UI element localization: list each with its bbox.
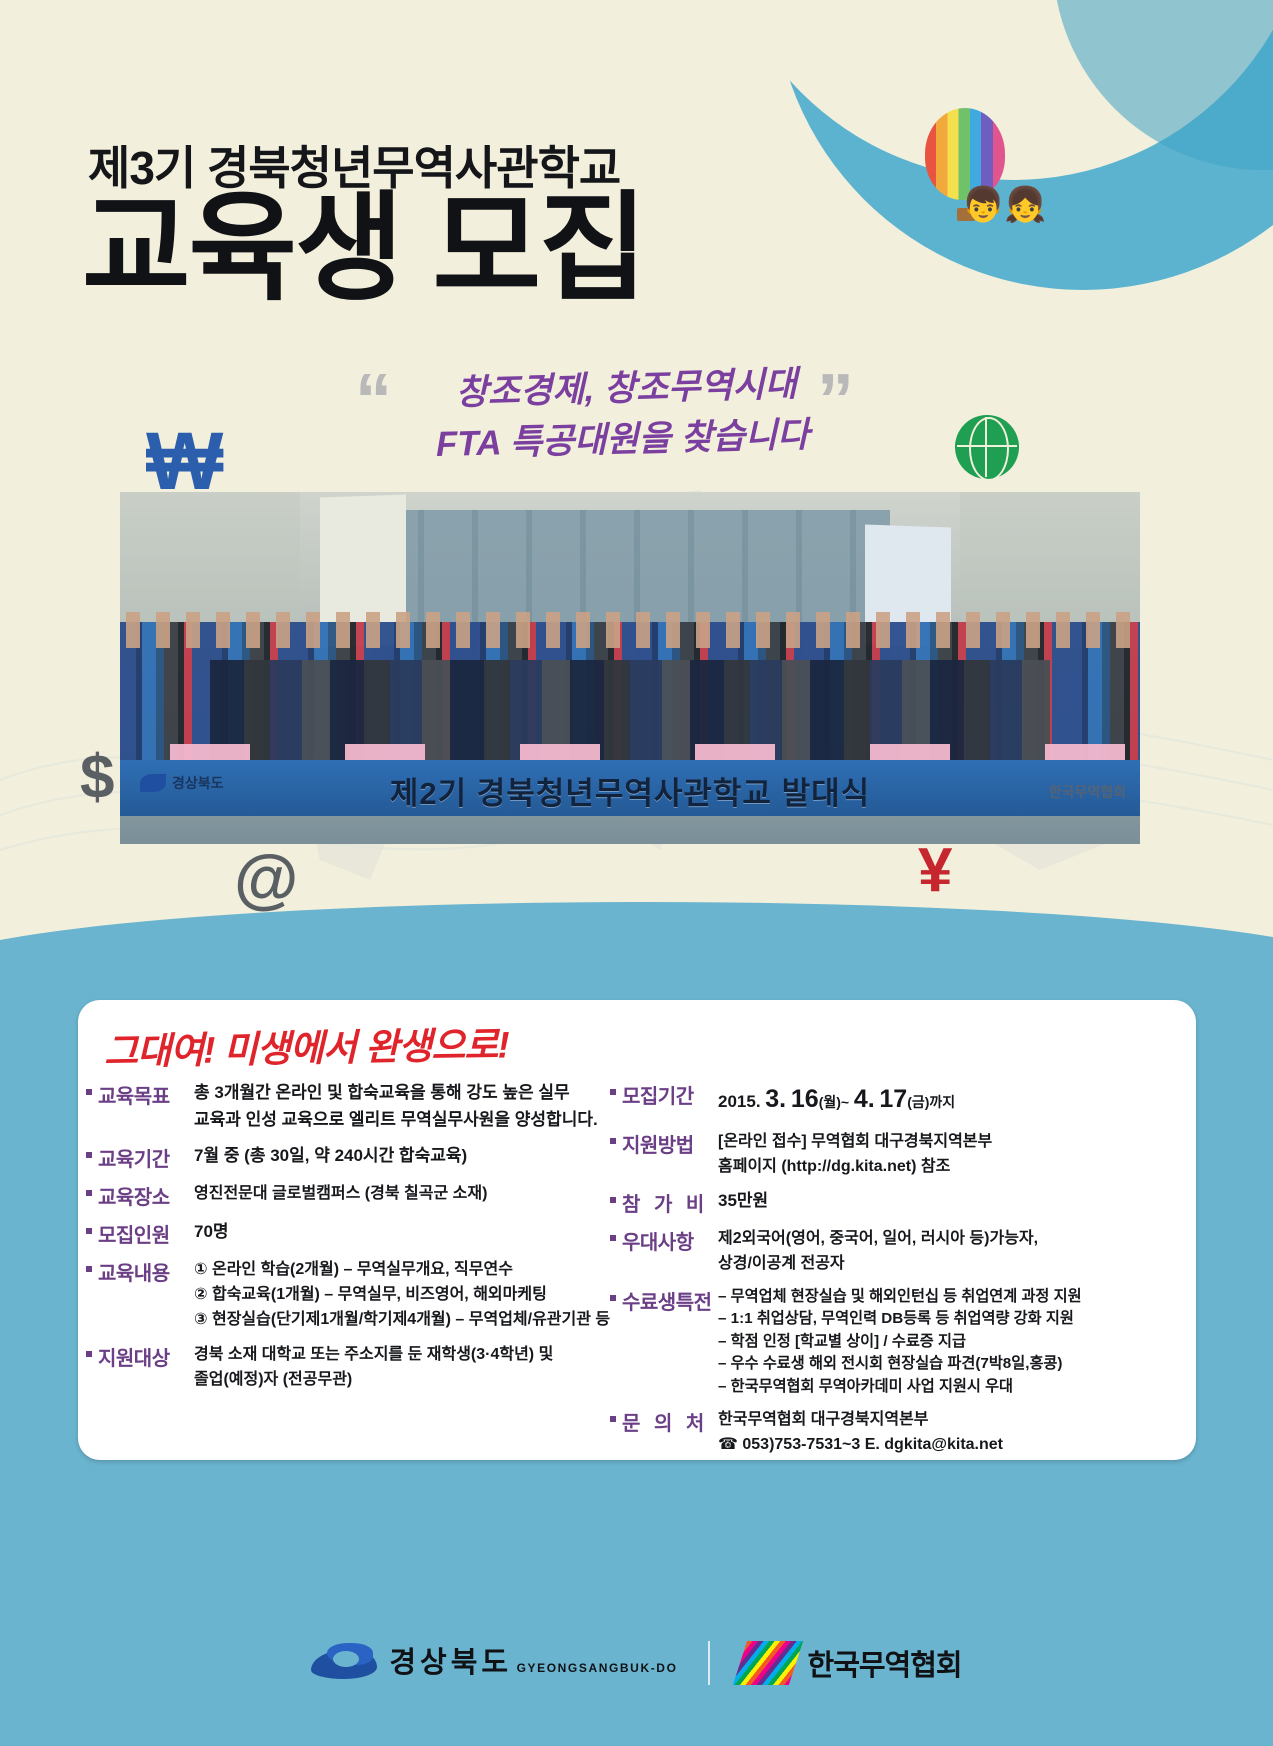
- value-eligibility-line-2: 졸업(예정)자 (전공무관): [194, 1367, 596, 1392]
- label-period: 교육기간: [86, 1143, 194, 1172]
- value-curriculum-line-2: ② 합숙교육(1개월) – 무역실무, 비즈영어, 해외마케팅: [194, 1282, 610, 1307]
- info-row-preference: 우대사항 제2외국어(영어, 중국어, 일어, 러시아 등)가능자, 상경/이공…: [610, 1226, 1185, 1277]
- value-benefits-line-2: – 1:1 취업상담, 무역인력 DB등록 등 취업역량 강화 지원: [718, 1308, 1185, 1331]
- bullet-icon: [86, 1266, 92, 1272]
- label-preference-text: 우대사항: [622, 1226, 694, 1255]
- poster-top-background: 제3기 경북청년무역사관학교 교육생 모집 “ 창조경제, 창조무역시대 FTA…: [0, 0, 1273, 1000]
- value-benefits-line-1: – 무역업체 현장실습 및 해외인턴십 등 취업연계 과정 지원: [718, 1286, 1185, 1309]
- bullet-icon: [86, 1351, 92, 1357]
- info-column-left: 교육목표 총 3개월간 온라인 및 합숙교육을 통해 강도 높은 실무 교육과 …: [86, 1080, 596, 1467]
- value-preference: 제2외국어(영어, 중국어, 일어, 러시아 등)가능자, 상경/이공계 전공자: [718, 1226, 1185, 1277]
- photo-kita-logo-text: 한국무역협회: [1049, 782, 1126, 802]
- gb-logo-en: GYEONGSANGBUK-DO: [517, 1661, 678, 1675]
- value-how-to-apply-line-2[interactable]: 홈페이지 (http://dg.kita.net) 참조: [718, 1154, 1185, 1179]
- info-row-fee: 참 가 비 35만원: [610, 1188, 1185, 1217]
- label-curriculum: 교육내용: [86, 1257, 194, 1286]
- value-fee: 35만원: [718, 1188, 1185, 1215]
- gyeongsangbuk-mark-icon: [311, 1641, 377, 1685]
- date-day-end: 17: [879, 1085, 907, 1113]
- value-venue: 영진전문대 글로벌캠퍼스 (경북 칠곡군 소재): [194, 1181, 596, 1206]
- value-goal-line-2: 교육과 인성 교육으로 엘리트 무역실무사원을 양성합니다.: [194, 1107, 598, 1134]
- label-fee-text: 참 가 비: [622, 1188, 708, 1217]
- label-venue: 교육장소: [86, 1181, 194, 1210]
- date-day-start: 16: [791, 1085, 819, 1113]
- value-contact: 한국무역협회 대구경북지역본부 ☎ 053)753-7531~3 E. dgki…: [718, 1407, 1185, 1458]
- gyeongsangbuk-mark-icon: [140, 774, 166, 792]
- value-period: 7월 중 (총 30일, 약 240시간 합숙교육): [194, 1143, 596, 1170]
- label-fee: 참 가 비: [610, 1188, 718, 1217]
- bullet-icon: [86, 1190, 92, 1196]
- label-contact-text: 문 의 처: [622, 1407, 708, 1436]
- value-benefits-line-5: – 한국무역협회 무역아카데미 사업 지원시 우대: [718, 1376, 1185, 1399]
- info-row-eligibility: 지원대상 경북 소재 대학교 또는 주소지를 둔 재학생(3·4학년) 및 졸업…: [86, 1342, 596, 1393]
- bullet-icon: [610, 1295, 616, 1301]
- dollar-currency-icon: $: [80, 742, 114, 813]
- bullet-icon: [610, 1197, 616, 1203]
- gyeongsangbuk-logo-text: 경상북도 GYEONGSANGBUK-DO: [389, 1648, 677, 1678]
- label-eligibility: 지원대상: [86, 1342, 194, 1371]
- tagline-line-1: 창조경제, 창조무역시대: [455, 365, 797, 413]
- tagline-text: 창조경제, 창조무역시대 FTA 특공대원을 찾습니다: [416, 359, 839, 471]
- info-row-quota: 모집인원 70명: [86, 1219, 596, 1248]
- bullet-icon: [86, 1228, 92, 1234]
- gb-logo-kr: 경상북도: [389, 1647, 512, 1679]
- info-column-right: 모집기간 2015. 3. 16(월)~ 4. 17(금)까지 지원방법 [온라…: [610, 1080, 1185, 1467]
- value-curriculum-line-3: ③ 현장실습(단기제1개월/학기제4개월) – 무역업체/유관기관 등: [194, 1307, 610, 1332]
- quote-open-icon: “: [355, 374, 392, 426]
- bullet-icon: [610, 1089, 616, 1095]
- label-quota-text: 모집인원: [98, 1219, 170, 1248]
- date-year: 2015.: [718, 1092, 761, 1111]
- info-row-venue: 교육장소 영진전문대 글로벌캠퍼스 (경북 칠곡군 소재): [86, 1181, 596, 1210]
- kita-logo-text: 한국무역협회: [808, 1642, 962, 1684]
- ceremony-photo: 제2기 경북청년무역사관학교 발대식 경상북도 한국무역협회: [120, 492, 1140, 844]
- value-contact-phone-email[interactable]: ☎ 053)753-7531~3 E. dgkita@kita.net: [718, 1432, 1185, 1457]
- date-month-end: 4.: [854, 1085, 875, 1113]
- date-dow-end: (금)까지: [907, 1094, 955, 1110]
- value-curriculum-line-1: ① 온라인 학습(2개월) – 무역실무개요, 직무연수: [194, 1257, 610, 1282]
- label-goal-text: 교육목표: [98, 1080, 170, 1109]
- bullet-icon: [86, 1089, 92, 1095]
- info-row-period: 교육기간 7월 중 (총 30일, 약 240시간 합숙교육): [86, 1143, 596, 1172]
- gyeongsangbuk-do-logo: 경상북도 GYEONGSANGBUK-DO: [311, 1641, 677, 1685]
- value-curriculum: ① 온라인 학습(2개월) – 무역실무개요, 직무연수 ② 합숙교육(1개월)…: [194, 1257, 610, 1333]
- photo-gb-logo-text: 경상북도: [172, 776, 224, 791]
- label-application-period: 모집기간: [610, 1080, 718, 1109]
- info-row-how-to-apply: 지원방법 [온라인 접수] 무역협회 대구경북지역본부 홈페이지 (http:/…: [610, 1129, 1185, 1180]
- info-row-contact: 문 의 처 한국무역협회 대구경북지역본부 ☎ 053)753-7531~3 E…: [610, 1407, 1185, 1458]
- photo-banner-text: 제2기 경북청년무역사관학교 발대식: [120, 764, 1140, 816]
- value-goal: 총 3개월간 온라인 및 합숙교육을 통해 강도 높은 실무 교육과 인성 교육…: [194, 1080, 598, 1134]
- value-preference-line-1: 제2외국어(영어, 중국어, 일어, 러시아 등)가능자,: [718, 1226, 1185, 1251]
- label-benefits: 수료생특전: [610, 1286, 718, 1315]
- value-quota: 70명: [194, 1219, 596, 1246]
- children-icon: 👦👧: [962, 185, 1047, 225]
- label-how-to-apply-text: 지원방법: [622, 1129, 694, 1158]
- bullet-icon: [86, 1152, 92, 1158]
- value-quota-line-1: 70명: [194, 1219, 596, 1246]
- value-eligibility: 경북 소재 대학교 또는 주소지를 둔 재학생(3·4학년) 및 졸업(예정)자…: [194, 1342, 596, 1393]
- date-month-start: 3.: [765, 1085, 786, 1113]
- value-preference-line-2: 상경/이공계 전공자: [718, 1251, 1185, 1276]
- label-eligibility-text: 지원대상: [98, 1342, 170, 1371]
- quote-close-icon: ”: [817, 374, 854, 426]
- kita-logo: 한국무역협회: [740, 1641, 962, 1685]
- bullet-icon: [610, 1416, 616, 1422]
- value-contact-org: 한국무역협회 대구경북지역본부: [718, 1407, 1185, 1432]
- card-title: 그대여! 미생에서 완생으로!: [104, 1014, 510, 1075]
- label-how-to-apply: 지원방법: [610, 1129, 718, 1158]
- label-quota: 모집인원: [86, 1219, 194, 1248]
- info-row-benefits: 수료생특전 – 무역업체 현장실습 및 해외인턴십 등 취업연계 과정 지원 –…: [610, 1286, 1185, 1399]
- value-benefits-line-4: – 우수 수료생 해외 전시회 현장실습 파견(7박8일,홍콩): [718, 1353, 1185, 1376]
- info-row-application-period: 모집기간 2015. 3. 16(월)~ 4. 17(금)까지: [610, 1080, 1185, 1120]
- info-row-goal: 교육목표 총 3개월간 온라인 및 합숙교육을 통해 강도 높은 실무 교육과 …: [86, 1080, 596, 1134]
- globe-icon: [955, 415, 1019, 479]
- label-curriculum-text: 교육내용: [98, 1257, 170, 1286]
- label-period-text: 교육기간: [98, 1143, 170, 1172]
- label-goal: 교육목표: [86, 1080, 194, 1109]
- bullet-icon: [610, 1235, 616, 1241]
- info-row-curriculum: 교육내용 ① 온라인 학습(2개월) – 무역실무개요, 직무연수 ② 합숙교육…: [86, 1257, 596, 1333]
- footer-logos: 경상북도 GYEONGSANGBUK-DO 한국무역협회: [0, 1618, 1273, 1708]
- page-title: 교육생 모집: [82, 185, 646, 315]
- label-benefits-text: 수료생특전: [622, 1286, 712, 1315]
- value-venue-line-1: 영진전문대 글로벌캠퍼스 (경북 칠곡군 소재): [194, 1181, 596, 1206]
- photo-gyeongsangbuk-logo: 경상북도: [140, 774, 224, 792]
- label-application-period-text: 모집기간: [622, 1080, 694, 1109]
- value-benefits: – 무역업체 현장실습 및 해외인턴십 등 취업연계 과정 지원 – 1:1 취…: [718, 1286, 1185, 1399]
- info-columns: 교육목표 총 3개월간 온라인 및 합숙교육을 통해 강도 높은 실무 교육과 …: [86, 1080, 1191, 1467]
- value-period-line-1: 7월 중 (총 30일, 약 240시간 합숙교육): [194, 1143, 596, 1170]
- label-contact: 문 의 처: [610, 1407, 718, 1436]
- value-how-to-apply-line-1: [온라인 접수] 무역협회 대구경북지역본부: [718, 1129, 1185, 1154]
- footer-divider: [708, 1641, 710, 1685]
- at-sign-icon: @: [234, 840, 298, 916]
- yen-currency-icon: ¥: [918, 835, 952, 906]
- kita-rainbow-mark-icon: [732, 1641, 802, 1685]
- value-benefits-line-3: – 학점 인정 [학교별 상이] / 수료증 지급: [718, 1331, 1185, 1354]
- value-goal-line-1: 총 3개월간 온라인 및 합숙교육을 통해 강도 높은 실무: [194, 1080, 598, 1107]
- value-eligibility-line-1: 경북 소재 대학교 또는 주소지를 둔 재학생(3·4학년) 및: [194, 1342, 596, 1367]
- value-application-period: 2015. 3. 16(월)~ 4. 17(금)까지: [718, 1080, 1185, 1120]
- label-preference: 우대사항: [610, 1226, 718, 1255]
- date-dow-start: (월)~: [819, 1094, 849, 1110]
- bullet-icon: [610, 1138, 616, 1144]
- value-fee-line-1: 35만원: [718, 1188, 1185, 1215]
- value-how-to-apply: [온라인 접수] 무역협회 대구경북지역본부 홈페이지 (http://dg.k…: [718, 1129, 1185, 1180]
- label-venue-text: 교육장소: [98, 1181, 170, 1210]
- poster-root: 제3기 경북청년무역사관학교 교육생 모집 “ 창조경제, 창조무역시대 FTA…: [0, 0, 1273, 1746]
